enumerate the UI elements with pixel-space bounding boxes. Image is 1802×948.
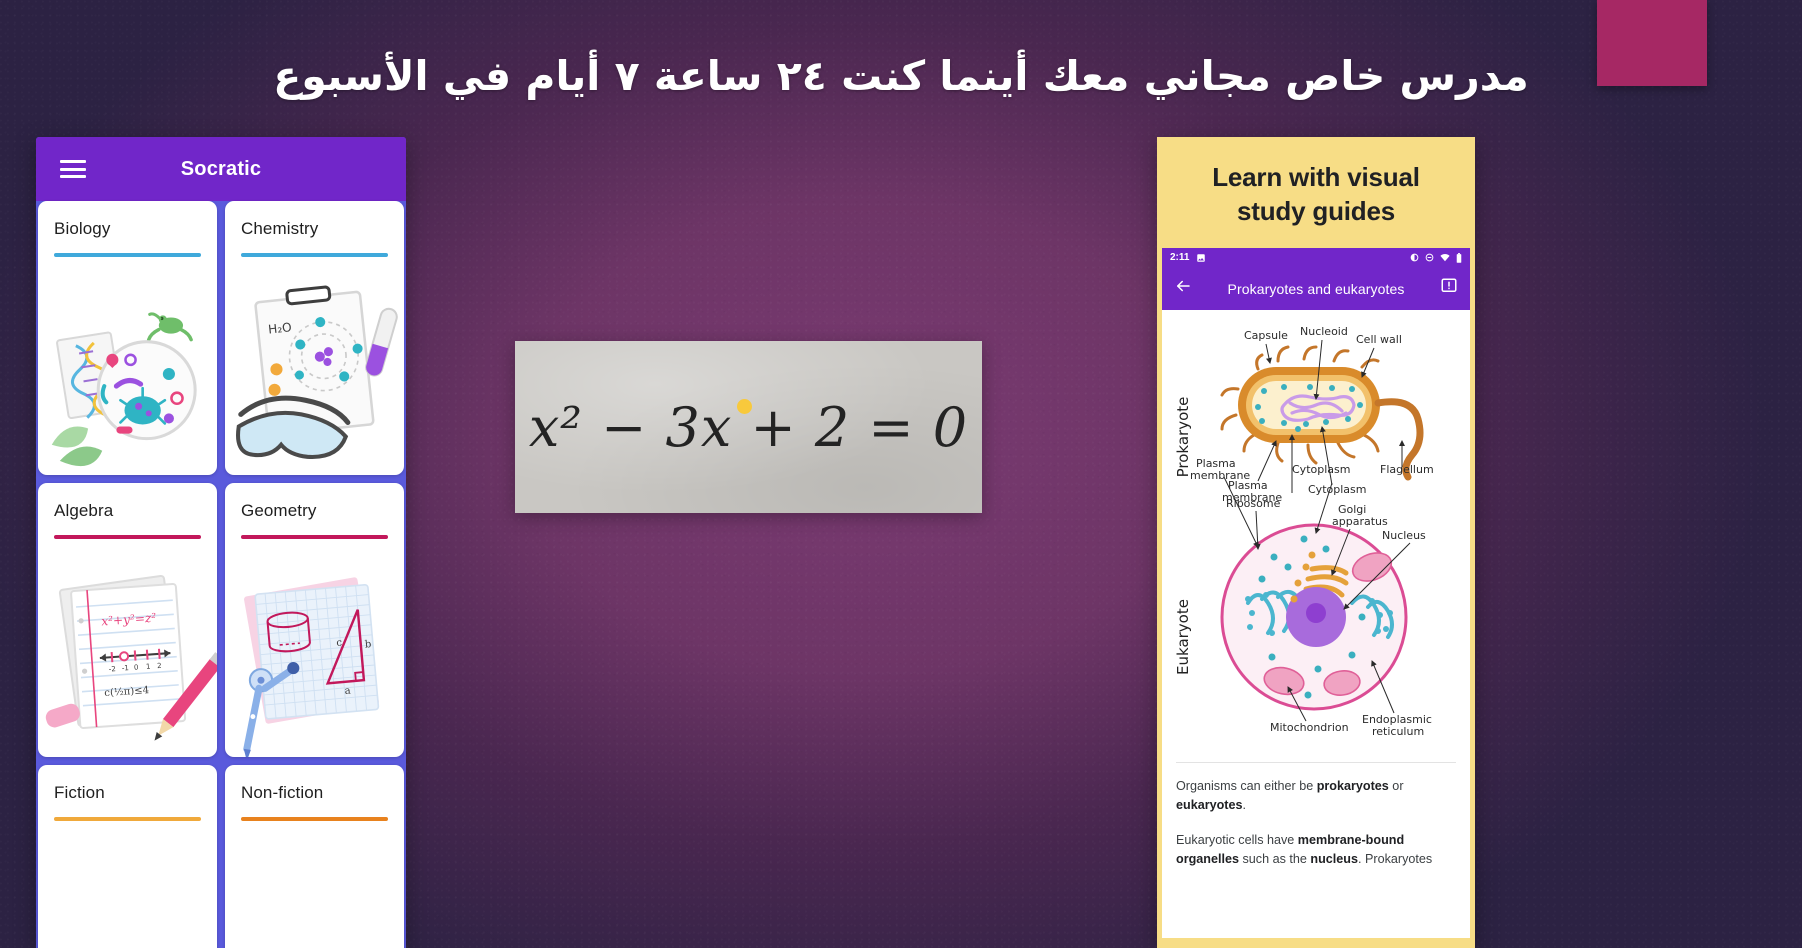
highlight-dot (737, 399, 752, 414)
battery-icon (1456, 253, 1462, 263)
fiction-illustration (38, 837, 217, 948)
svg-text:reticulum: reticulum (1372, 725, 1424, 738)
subject-row: Algebra (36, 483, 406, 757)
subject-grid: Biology (36, 201, 406, 948)
label-nucleoid: Nucleoid (1300, 325, 1348, 338)
subject-card-algebra[interactable]: Algebra (38, 483, 217, 757)
subject-rule (241, 535, 388, 539)
do-not-disturb-icon (1425, 253, 1434, 262)
status-bar: 2:11 (1162, 248, 1470, 268)
subject-card-chemistry[interactable]: Chemistry H₂O (225, 201, 404, 475)
phone-screenshot: 2:11 (1162, 248, 1470, 938)
guide-appbar: Prokaryotes and eukaryotes (1162, 268, 1470, 310)
brightness-icon (1410, 253, 1419, 262)
subject-label: Chemistry (241, 219, 388, 239)
label-nucleus: Nucleus (1382, 529, 1426, 542)
svg-text:apparatus: apparatus (1332, 515, 1388, 528)
subject-label: Fiction (54, 783, 201, 803)
status-time: 2:11 (1170, 252, 1189, 263)
subject-label: Non-fiction (241, 783, 388, 803)
subject-rule (54, 535, 201, 539)
socratic-app-title: Socratic (36, 158, 406, 181)
subject-label: Algebra (54, 501, 201, 521)
page-title: مدرس خاص مجاني معك أينما كنت ٢٤ ساعة ٧ أ… (0, 52, 1802, 100)
label-cytoplasm-eu: Cytoplasm (1292, 463, 1350, 476)
algebra-illustration: x²+y²=z² (38, 555, 217, 757)
geometry-illustration: c b a (225, 555, 404, 757)
back-arrow-icon[interactable] (1174, 277, 1192, 300)
subject-rule (241, 817, 388, 821)
body-paragraph-2: Eukaryotic cells have membrane-bound org… (1176, 831, 1456, 870)
nonfiction-illustration (225, 837, 404, 948)
svg-text:b: b (364, 639, 371, 651)
cell-diagram: Prokaryote (1162, 310, 1470, 758)
svg-text:a: a (344, 685, 351, 696)
label-cell-wall: Cell wall (1356, 333, 1402, 346)
heading-line-2: study guides (1173, 195, 1459, 229)
label-mitochondrion: Mitochondrion (1270, 721, 1349, 734)
biology-illustration (38, 273, 217, 475)
label-cytoplasm-pro: Cytoplasm (1308, 483, 1366, 496)
subject-row: Fiction Non-fiction (36, 765, 406, 948)
subject-rule (54, 817, 201, 821)
subject-card-nonfiction[interactable]: Non-fiction (225, 765, 404, 948)
svg-text:1: 1 (146, 662, 151, 671)
wifi-icon (1440, 253, 1450, 262)
svg-text:membrane: membrane (1190, 469, 1250, 482)
study-guide-heading: Learn with visual study guides (1157, 137, 1475, 245)
image-icon (1196, 253, 1206, 263)
label-flagellum: Flagellum (1380, 463, 1434, 476)
socratic-appbar: Socratic (36, 137, 406, 201)
body-paragraph-1: Organisms can either be prokaryotes or e… (1176, 777, 1456, 816)
subject-card-biology[interactable]: Biology (38, 201, 217, 475)
eukaryote-side-label: Eukaryote (1174, 599, 1192, 675)
label-capsule: Capsule (1244, 329, 1288, 342)
subject-label: Biology (54, 219, 201, 239)
svg-text:2: 2 (157, 661, 162, 670)
bookmark-note-icon[interactable] (1440, 277, 1458, 300)
study-guide-panel: Learn with visual study guides 2:11 (1157, 137, 1475, 948)
subject-row: Biology (36, 201, 406, 475)
svg-text:-2: -2 (108, 664, 116, 673)
subject-rule (241, 253, 388, 257)
promo-stage: مدرس خاص مجاني معك أينما كنت ٢٤ ساعة ٧ أ… (0, 0, 1802, 948)
subject-label: Geometry (241, 501, 388, 521)
svg-text:-1: -1 (122, 663, 130, 672)
prokaryote-side-label: Prokaryote (1174, 396, 1192, 477)
subject-card-fiction[interactable]: Fiction (38, 765, 217, 948)
chemistry-illustration: H₂O (225, 273, 404, 475)
guide-body-text: Organisms can either be prokaryotes or e… (1162, 763, 1470, 870)
heading-line-1: Learn with visual (1173, 161, 1459, 195)
svg-text:H₂O: H₂O (267, 320, 292, 336)
guide-title: Prokaryotes and eukaryotes (1206, 281, 1426, 297)
socratic-app-screenshot: Socratic Biology (36, 137, 406, 948)
subject-card-geometry[interactable]: Geometry (225, 483, 404, 757)
hamburger-menu-icon[interactable] (60, 160, 86, 178)
equation-photo-card: x² − 3x + 2 = 0 (515, 341, 982, 513)
subject-rule (54, 253, 201, 257)
